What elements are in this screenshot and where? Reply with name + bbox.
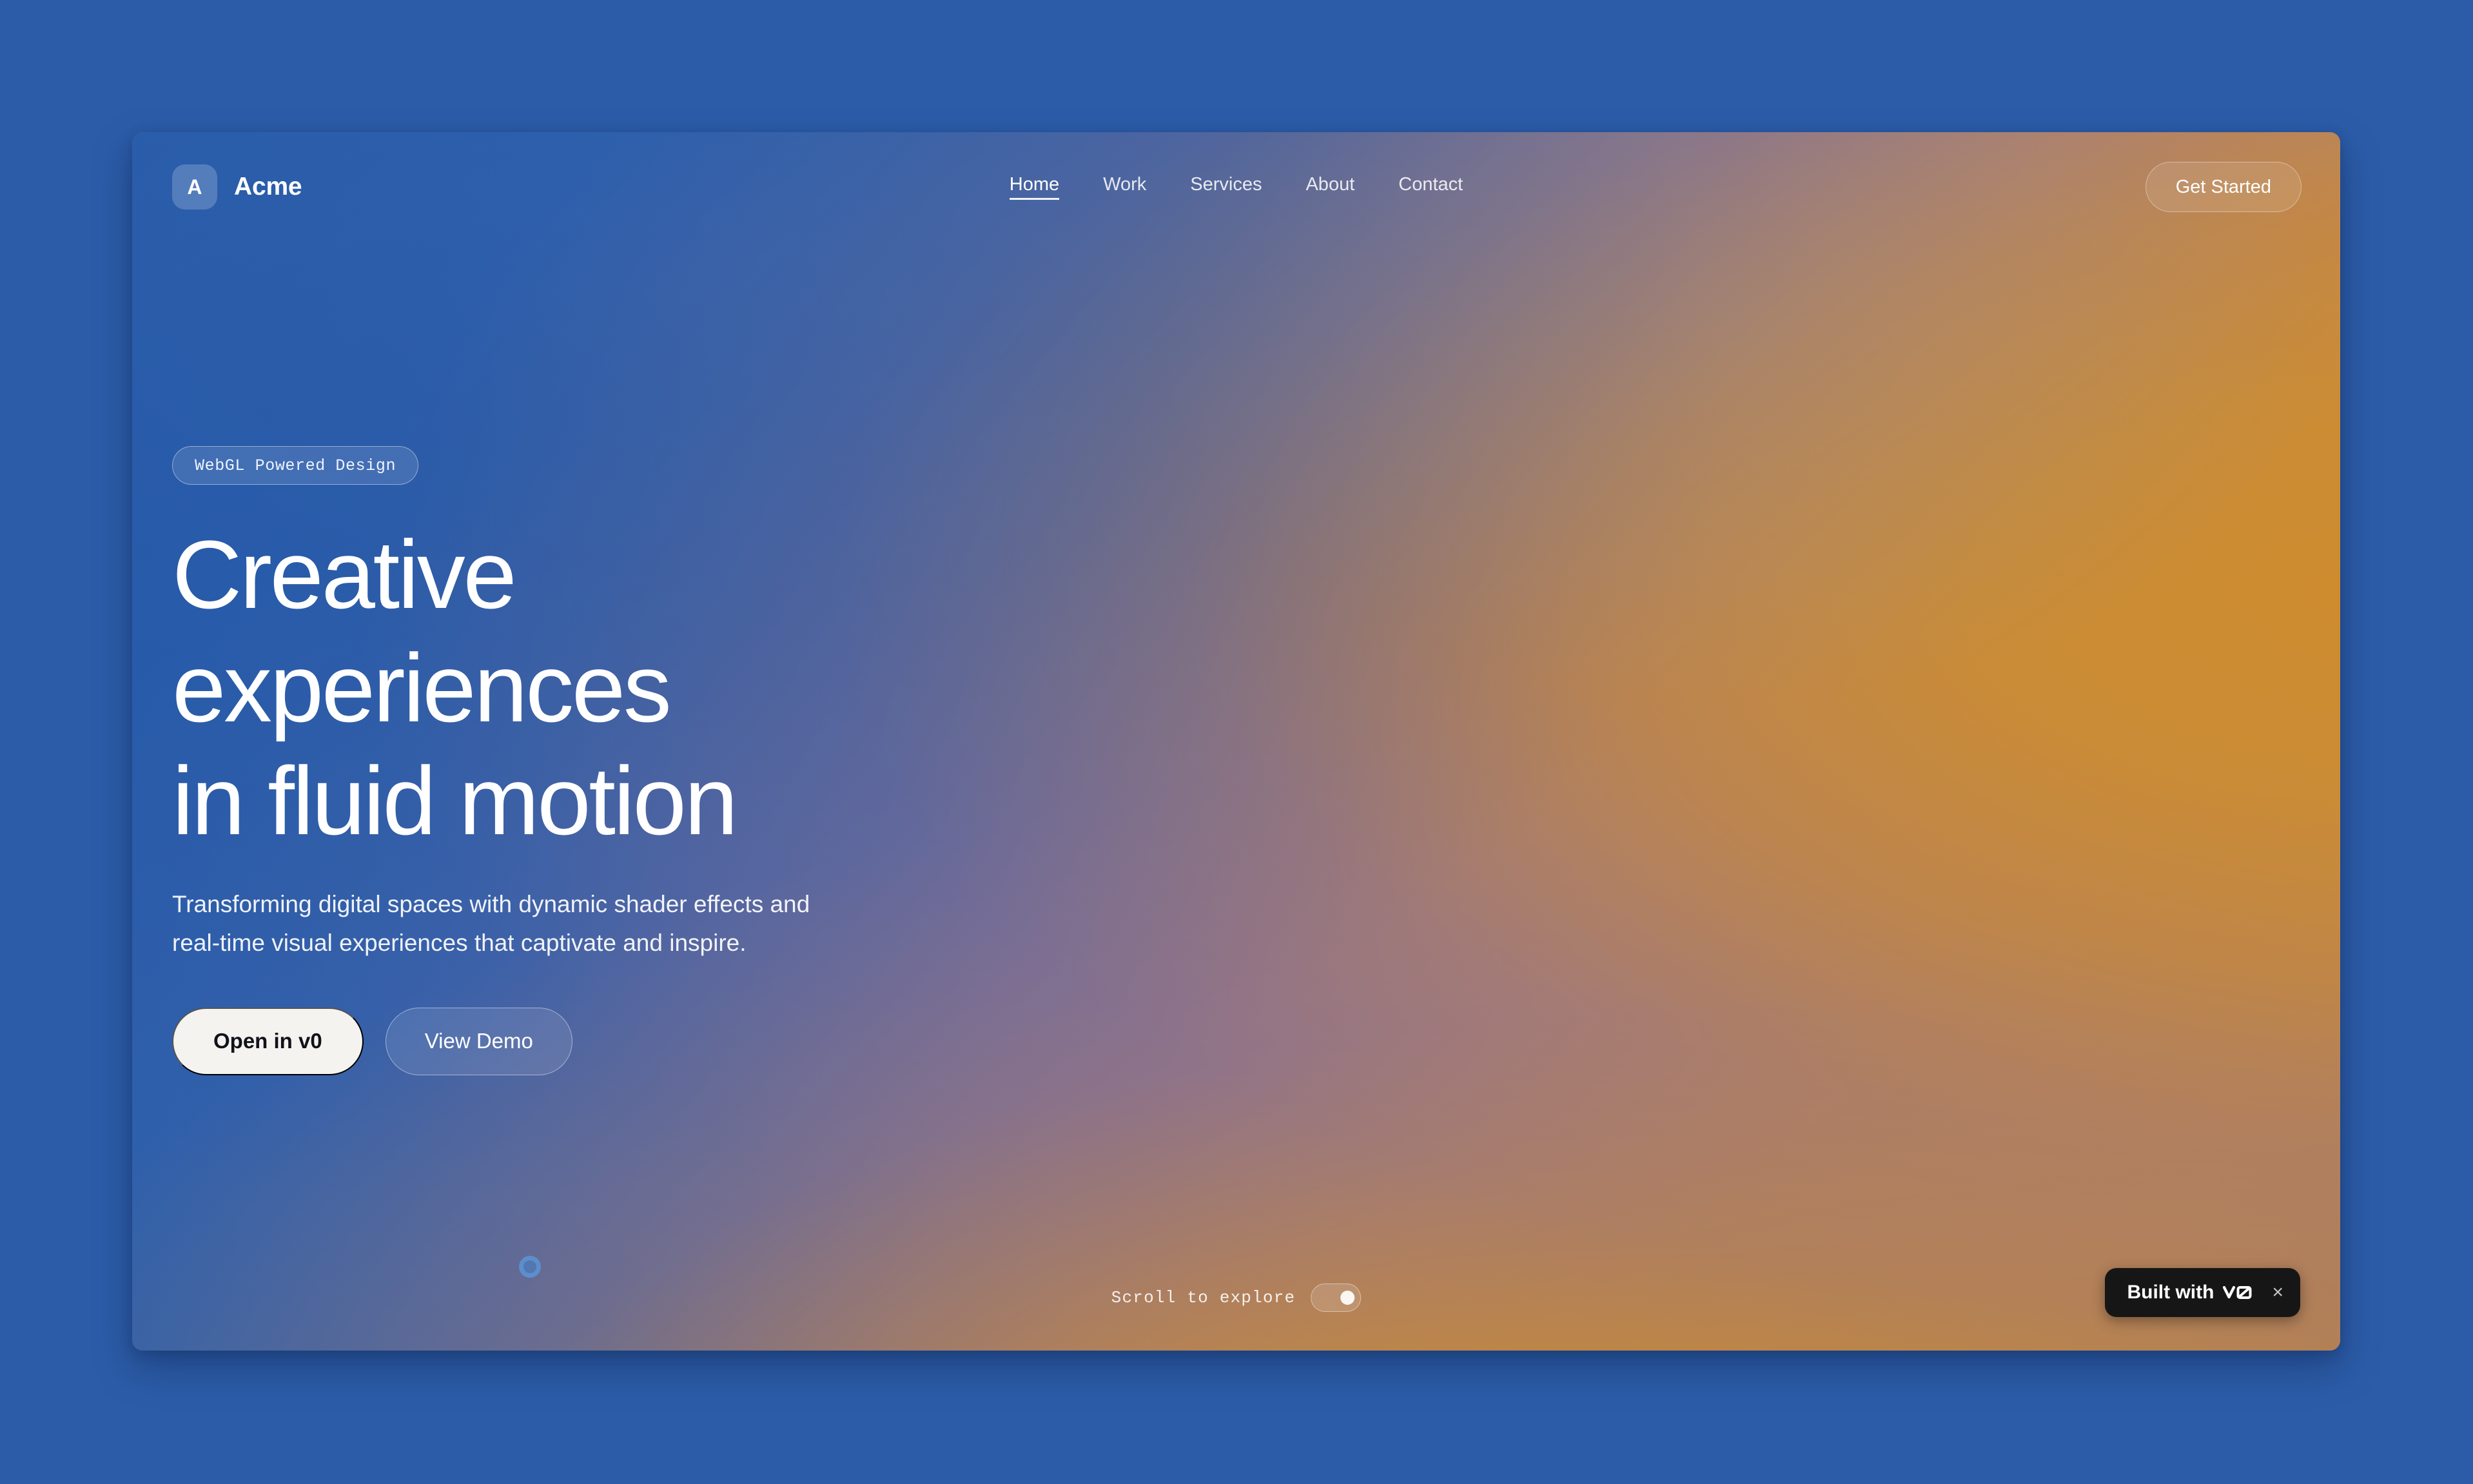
scroll-indicator-label: Scroll to explore <box>1111 1288 1296 1307</box>
built-with-badge[interactable]: Built with × <box>2105 1268 2300 1317</box>
built-with-label: Built with <box>2127 1282 2254 1303</box>
built-with-text: Built with <box>2127 1282 2214 1303</box>
hero-actions: Open in v0 View Demo <box>172 1008 1461 1075</box>
site-header: A Acme Home Work Services About Contact … <box>132 132 2340 242</box>
main-nav: Home Work Services About Contact <box>132 132 2340 242</box>
v0-logo-icon <box>2223 1284 2254 1301</box>
hero-subtitle: Transforming digital spaces with dynamic… <box>172 885 946 962</box>
hero-subtitle-line-1: Transforming digital spaces with dynamic… <box>172 885 946 924</box>
brand-logo[interactable]: A Acme <box>172 164 302 210</box>
page-root: A Acme Home Work Services About Contact … <box>0 0 2473 1484</box>
get-started-button[interactable]: Get Started <box>2146 162 2302 212</box>
cursor-dot-icon <box>519 1256 541 1278</box>
nav-item-services[interactable]: Services <box>1190 174 1262 200</box>
hero-title-line-1: Creative <box>172 518 1461 632</box>
nav-item-about[interactable]: About <box>1305 174 1354 200</box>
view-demo-button[interactable]: View Demo <box>386 1008 572 1075</box>
nav-item-home[interactable]: Home <box>1010 174 1059 200</box>
brand-mark-icon: A <box>172 164 217 210</box>
close-icon[interactable]: × <box>2272 1283 2283 1302</box>
hero-badge: WebGL Powered Design <box>172 446 418 485</box>
brand-name: Acme <box>234 173 302 201</box>
hero-title-line-2: experiences <box>172 632 1461 745</box>
hero-title: Creative experiences in fluid motion <box>172 518 1461 858</box>
hero-subtitle-line-2: real-time visual experiences that captiv… <box>172 924 946 962</box>
scroll-indicator-track[interactable] <box>1311 1284 1361 1312</box>
hero-card: A Acme Home Work Services About Contact … <box>132 132 2340 1351</box>
scroll-indicator-thumb-icon <box>1340 1291 1354 1305</box>
scroll-indicator[interactable]: Scroll to explore <box>1111 1284 1362 1312</box>
open-in-v0-button[interactable]: Open in v0 <box>172 1008 364 1075</box>
hero-title-line-3: in fluid motion <box>172 745 1461 858</box>
nav-item-contact[interactable]: Contact <box>1398 174 1463 200</box>
hero-content: WebGL Powered Design Creative experience… <box>172 132 1461 1351</box>
nav-item-work[interactable]: Work <box>1103 174 1146 200</box>
